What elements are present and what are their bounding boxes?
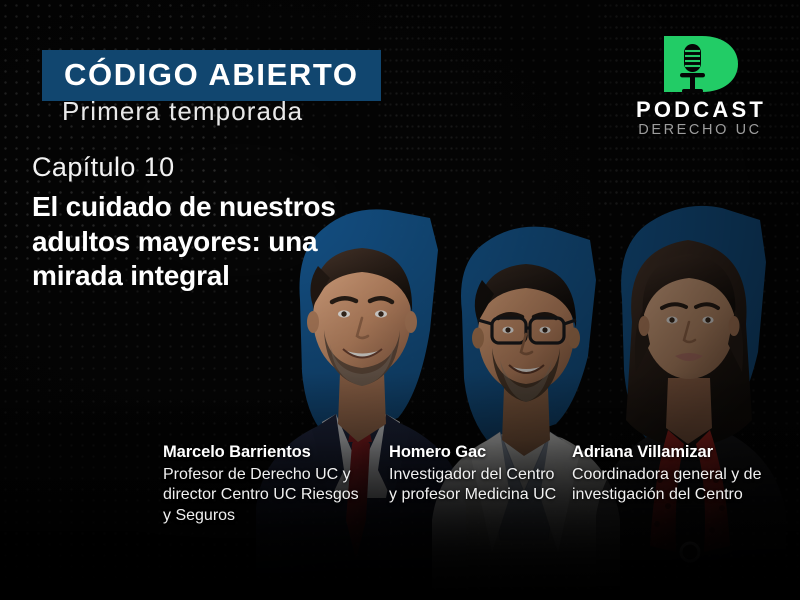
speaker-role: Investigador del Centro y profesor Medic…: [389, 465, 565, 506]
chapter-label: Capítulo 10: [32, 152, 175, 183]
show-title-banner: CÓDIGO ABIERTO: [42, 50, 381, 101]
season-label: Primera temporada: [62, 96, 303, 127]
speaker-credit-2: Homero Gac Investigador del Centro y pro…: [389, 443, 565, 506]
speaker-credit-1: Marcelo Barrientos Profesor de Derecho U…: [163, 443, 363, 526]
show-title: CÓDIGO ABIERTO: [64, 59, 359, 90]
episode-title: El cuidado de nuestros adultos mayores: …: [32, 190, 362, 294]
speaker-credit-3: Adriana Villamizar Coordinadora general …: [572, 443, 782, 506]
podcast-logo: PODCAST DERECHO UC: [636, 34, 764, 140]
speaker-role: Coordinadora general y de investigación …: [572, 465, 782, 506]
blue-silhouette-shapes: [300, 206, 767, 448]
podcast-episode-poster: CÓDIGO ABIERTO Primera temporada Capítul…: [0, 0, 800, 600]
eyeglasses-icon: [478, 318, 576, 343]
podcast-microphone-d-icon: [658, 34, 742, 94]
background-dot-cluster-middle: [380, 0, 500, 180]
speaker-credits: Marcelo Barrientos Profesor de Derecho U…: [0, 443, 800, 553]
logo-wordmark: PODCAST: [636, 98, 764, 121]
speaker-name: Adriana Villamizar: [572, 443, 782, 462]
speaker-role: Profesor de Derecho UC y director Centro…: [163, 465, 363, 526]
speaker-name: Homero Gac: [389, 443, 509, 462]
speaker-name: Marcelo Barrientos: [163, 443, 363, 462]
logo-subtitle: DERECHO UC: [636, 121, 764, 140]
